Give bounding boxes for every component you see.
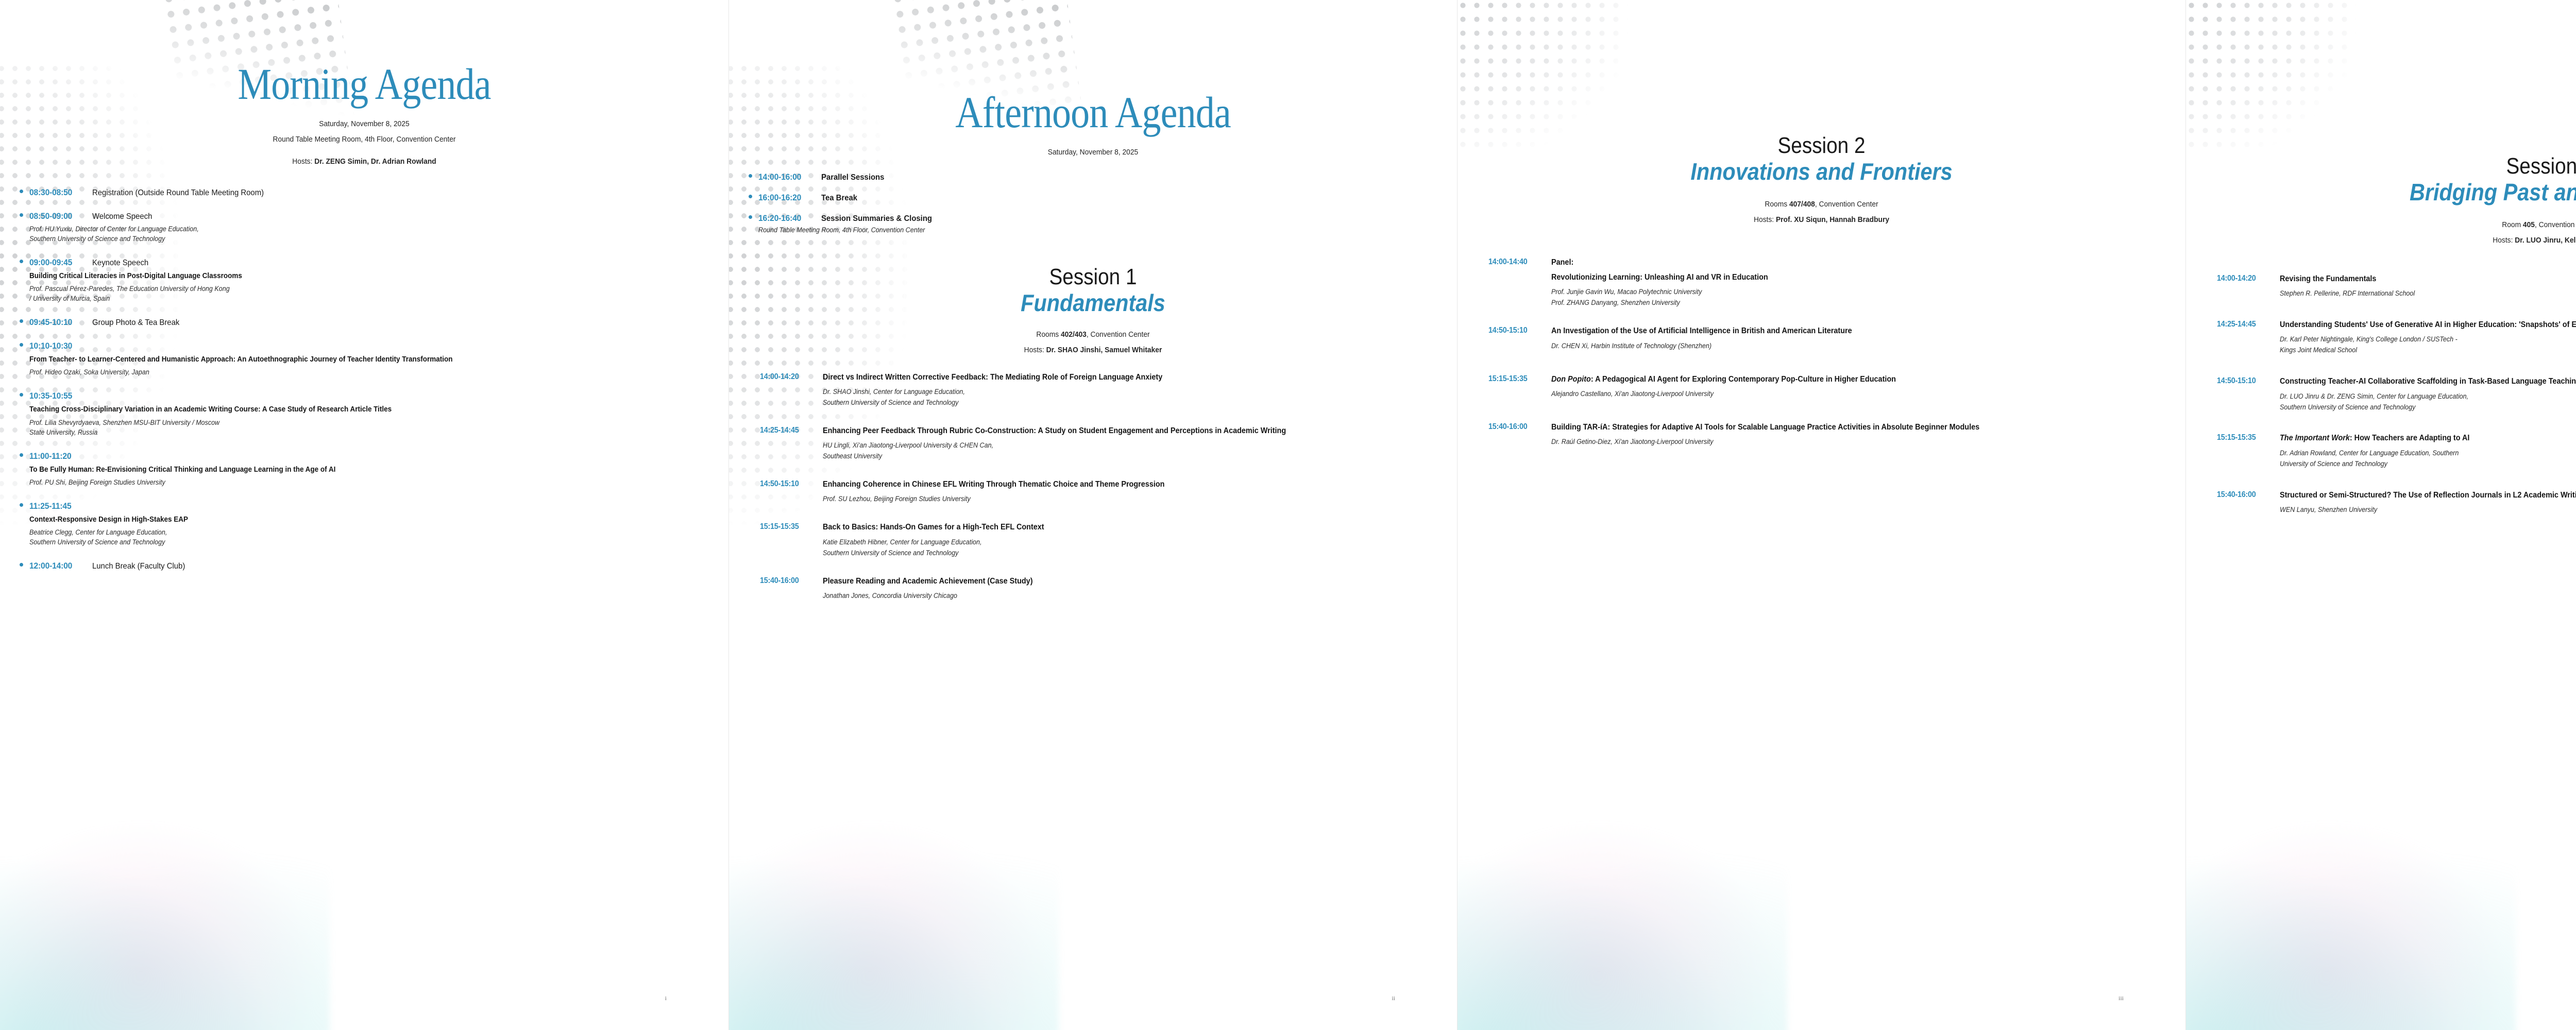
affiliation-line: University of Science and Technology	[2280, 459, 2576, 469]
affiliation-line: Southern University of Science and Techn…	[823, 548, 1384, 558]
slide-morning-agenda: Morning Agenda Saturday, November 8, 202…	[0, 0, 728, 1030]
page-number: iii	[2119, 994, 2124, 1002]
talk-row[interactable]: 15:40-16:00 Structured or Semi-Structure…	[2217, 490, 2576, 515]
session-room: Rooms 402/403, Convention Center	[758, 330, 1428, 339]
talk-title: Enhancing Peer Feedback Through Rubric C…	[823, 425, 1384, 437]
session-3-talks: 14:00-14:20 Revising the Fundamentals St…	[2186, 273, 2576, 515]
affiliation-line: Southeast University	[823, 451, 1384, 461]
talk-title: Building TAR-íA: Strategies for Adaptive…	[1551, 422, 2112, 433]
talk-row[interactable]: 14:50-15:10 Enhancing Coherence in Chine…	[760, 479, 1426, 504]
session-hosts: Hosts: Prof. XU Siqun, Hannah Bradbury	[1487, 215, 2157, 224]
affiliation-line: HU Lingli, Xi'an Jiaotong-Liverpool Univ…	[823, 440, 1384, 451]
list-item[interactable]: 14:00-16:00 Parallel Sessions	[749, 172, 1424, 182]
item-affiliation: Prof. PU Shi, Beijing Foreign Studies Un…	[29, 478, 649, 488]
affiliation-line: Kings Joint Medical School	[2280, 345, 2576, 355]
talk-title-line2: Revolutionizing Learning: Unleashing AI …	[1551, 272, 2112, 283]
item-affiliation: Prof. Pascual Pérez-Paredes, The Educati…	[29, 284, 649, 304]
item-label: Registration (Outside Round Table Meetin…	[92, 188, 264, 198]
event-venue: Round Table Meeting Room, 4th Floor, Con…	[29, 135, 700, 144]
item-time: 09:00-09:45	[29, 257, 80, 268]
talk-row[interactable]: 14:00-14:20 Direct vs Indirect Written C…	[760, 372, 1426, 408]
affiliation-line: Prof. Junjie Gavin Wu, Macao Polytechnic…	[1551, 287, 2112, 297]
item-time: 11:00-11:20	[29, 451, 80, 461]
room-prefix: Rooms	[1036, 330, 1061, 339]
talk-time: 14:50-15:10	[1488, 325, 1543, 351]
talk-affiliation: Prof. Junjie Gavin Wu, Macao Polytechnic…	[1551, 287, 2112, 308]
affiliation-line: Southern University of Science and Techn…	[823, 398, 1384, 408]
item-subtitle: To Be Fully Human: Re-Envisioning Critic…	[29, 465, 649, 475]
session-number: Session 3	[2230, 154, 2576, 178]
item-affiliation: Prof. Lilia Shevyrdyaeva, Shenzhen MSU-B…	[29, 418, 649, 438]
talk-affiliation: Jonathan Jones, Concordia University Chi…	[823, 591, 1384, 601]
hosts-names: Dr. ZENG Simin, Dr. Adrian Rowland	[314, 157, 436, 166]
talk-title: The Important Work: How Teachers are Ada…	[2280, 433, 2576, 444]
session-header: Session 2 Innovations and Frontiers	[1458, 134, 2185, 185]
affiliation-line: Prof. HU Yuxiu, Director of Center for L…	[29, 225, 649, 234]
talk-time: 15:15-15:35	[1488, 374, 1543, 399]
page-number: i	[665, 994, 667, 1002]
talk-time: 14:25-14:45	[2217, 319, 2272, 355]
session-hosts: Hosts: Dr. SHAO Jinshi, Samuel Whitaker	[758, 346, 1428, 354]
hosts-label: Hosts:	[292, 157, 312, 166]
talk-title: Structured or Semi-Structured? The Use o…	[2280, 490, 2576, 501]
talk-title-italic: The Important Work	[2280, 434, 2350, 442]
gradient-wash	[0, 814, 330, 1030]
talk-time: 15:15-15:35	[760, 522, 815, 558]
talk-title: Back to Basics: Hands-On Games for a Hig…	[823, 522, 1384, 533]
room-number: 405	[2523, 220, 2535, 229]
list-item[interactable]: 10:10-10:30 From Teacher- to Learner-Cen…	[20, 341, 696, 377]
room-suffix: , Convention Center	[2535, 220, 2576, 229]
item-label: Keynote Speech	[92, 259, 148, 268]
hosts-label: Hosts:	[2493, 236, 2513, 245]
talk-row[interactable]: 14:00-14:20 Revising the Fundamentals St…	[2217, 273, 2576, 299]
talk-row[interactable]: 15:15-15:35 The Important Work: How Teac…	[2217, 433, 2576, 469]
item-affiliation: Prof. Hideo Ozaki, Soka University, Japa…	[29, 368, 649, 377]
list-item[interactable]: 11:25-11:45 Context-Responsive Design in…	[20, 501, 696, 547]
talk-affiliation: Dr. Karl Peter Nightingale, King's Colle…	[2280, 334, 2576, 355]
event-hosts: Hosts: Dr. ZENG Simin, Dr. Adrian Rowlan…	[29, 157, 700, 166]
affiliation-line: WEN Lanyu, Shenzhen University	[2280, 505, 2576, 515]
item-note: Round Table Meeting Room, 4th Floor, Con…	[758, 226, 1378, 235]
session-name: Innovations and Frontiers	[1494, 159, 2149, 185]
item-subtitle: Building Critical Literacies in Post-Dig…	[29, 271, 649, 281]
talk-affiliation: Stephen R. Pellerine, RDF International …	[2280, 288, 2576, 299]
talk-affiliation: Dr. SHAO Jinshi, Center for Language Edu…	[823, 387, 1384, 408]
hosts-names: Dr. LUO Jinru, Kelly Nelson	[2515, 236, 2576, 245]
affiliation-line: Katie Elizabeth Hibner, Center for Langu…	[823, 537, 1384, 547]
session-hosts: Hosts: Dr. LUO Jinru, Kelly Nelson	[2215, 236, 2576, 245]
affiliation-line: Prof. Lilia Shevyrdyaeva, Shenzhen MSU-B…	[29, 418, 649, 428]
affiliation-line: Dr. LUO Jinru & Dr. ZENG Simin, Center f…	[2280, 391, 2576, 402]
bullet-icon	[749, 195, 752, 198]
bullet-icon	[20, 319, 23, 323]
talk-time: 15:40-16:00	[2217, 490, 2272, 515]
gradient-wash	[1457, 814, 1787, 1030]
room-number: 407/408	[1789, 200, 1815, 209]
talk-row[interactable]: 15:40-16:00 Building TAR-íA: Strategies …	[1488, 422, 2155, 447]
affiliation-line: Dr. Raúl Getino-Diez, Xi'an Jiaotong-Liv…	[1551, 437, 2112, 447]
bullet-icon	[20, 393, 23, 397]
session-name: Bridging Past and Future (I)	[2223, 179, 2576, 206]
talk-time: 14:00-14:40	[1488, 257, 1543, 308]
affiliation-line: Prof. SU Lezhou, Beijing Foreign Studies…	[823, 494, 1384, 504]
talk-affiliation: Dr. CHEN Xi, Harbin Institute of Technol…	[1551, 341, 2112, 351]
talk-time: 14:50-15:10	[2217, 376, 2272, 412]
page-title: Afternoon Agenda	[780, 90, 1406, 134]
hosts-names: Dr. SHAO Jinshi, Samuel Whitaker	[1046, 346, 1162, 354]
list-item[interactable]: 11:00-11:20 To Be Fully Human: Re-Envisi…	[20, 451, 696, 488]
talk-title: Revising the Fundamentals	[2280, 273, 2576, 285]
affiliation-line: Southern University of Science and Techn…	[29, 234, 649, 244]
affiliation-line: State University, Russia	[29, 428, 649, 438]
affiliation-line: Jonathan Jones, Concordia University Chi…	[823, 591, 1384, 601]
talk-row[interactable]: 15:15-15:35 Back to Basics: Hands-On Gam…	[760, 522, 1426, 558]
item-affiliation: Prof. HU Yuxiu, Director of Center for L…	[29, 225, 649, 244]
item-time: 10:10-10:30	[29, 341, 80, 351]
talk-title-rest: : How Teachers are Adapting to AI	[2350, 434, 2470, 442]
affiliation-line: Dr. CHEN Xi, Harbin Institute of Technol…	[1551, 341, 2112, 351]
talk-time: 14:00-14:20	[760, 372, 815, 408]
hosts-label: Hosts:	[1024, 346, 1044, 354]
room-prefix: Rooms	[1765, 200, 1789, 209]
talk-time: 14:25-14:45	[760, 425, 815, 461]
bullet-icon	[20, 453, 23, 457]
list-item[interactable]: 12:00-14:00 Lunch Break (Faculty Club)	[20, 561, 696, 571]
talk-row[interactable]: 14:25-14:45 Understanding Students' Use …	[2217, 319, 2576, 355]
affiliation-line: Dr. Adrian Rowland, Center for Language …	[2280, 448, 2576, 458]
afternoon-agenda-list: 14:00-16:00 Parallel Sessions 16:00-16:2…	[729, 172, 1457, 235]
talk-affiliation: Dr. LUO Jinru & Dr. ZENG Simin, Center f…	[2280, 391, 2576, 413]
page-title: Morning Agenda	[51, 62, 677, 106]
session-header: Session 3 Bridging Past and Future (I)	[2186, 154, 2576, 206]
talk-affiliation: Alejandro Castellano, Xi'an Jiaotong-Liv…	[1551, 389, 2112, 399]
room-number: 402/403	[1061, 330, 1087, 339]
slide-afternoon-agenda: Afternoon Agenda Saturday, November 8, 2…	[728, 0, 1457, 1030]
talk-title-rest: : A Pedagogical AI Agent for Exploring C…	[1591, 375, 1896, 384]
bullet-icon	[20, 260, 23, 263]
list-item[interactable]: 08:30-08:50 Registration (Outside Round …	[20, 187, 696, 198]
talk-affiliation: HU Lingli, Xi'an Jiaotong-Liverpool Univ…	[823, 440, 1384, 461]
bullet-icon	[20, 343, 23, 347]
list-item[interactable]: 09:45-10:10 Group Photo & Tea Break	[20, 317, 696, 328]
page-number: ii	[1392, 994, 1395, 1002]
talk-title: Don Popito: A Pedagogical AI Agent for E…	[1551, 374, 2112, 385]
affiliation-line: Alejandro Castellano, Xi'an Jiaotong-Liv…	[1551, 389, 2112, 399]
item-time: 11:25-11:45	[29, 501, 80, 511]
talk-title: Constructing Teacher-AI Collaborative Sc…	[2280, 376, 2576, 387]
session-header: Session 1 Fundamentals	[729, 265, 1457, 317]
talk-time: 15:40-16:00	[1488, 422, 1543, 447]
affiliation-line: Stephen R. Pellerine, RDF International …	[2280, 288, 2576, 299]
session-room: Room 405, Convention Center	[2215, 220, 2576, 229]
bullet-icon	[749, 215, 752, 219]
talk-affiliation: Dr. Adrian Rowland, Center for Language …	[2280, 448, 2576, 469]
slide-session-3: Session 3 Bridging Past and Future (I) R…	[2185, 0, 2576, 1030]
talk-row[interactable]: 15:40-16:00 Pleasure Reading and Academi…	[760, 576, 1426, 601]
list-item[interactable]: 08:50-09:00 Welcome Speech Prof. HU Yuxi…	[20, 211, 696, 244]
slide-session-2: Session 2 Innovations and Frontiers Room…	[1457, 0, 2185, 1030]
affiliation-line: Southern University of Science and Techn…	[2280, 402, 2576, 413]
room-prefix: Room	[2502, 220, 2523, 229]
talk-title: Understanding Students' Use of Generativ…	[2280, 319, 2576, 331]
talk-time: 15:15-15:35	[2217, 433, 2272, 469]
affiliation-line: Dr. SHAO Jinshi, Center for Language Edu…	[823, 387, 1384, 397]
list-item[interactable]: 10:35-10:55 Teaching Cross-Disciplinary …	[20, 391, 696, 437]
dot-pattern-icon	[1457, 0, 1628, 154]
bullet-icon	[20, 213, 23, 217]
talk-affiliation: WEN Lanyu, Shenzhen University	[2280, 505, 2576, 515]
bullet-icon	[20, 503, 23, 507]
morning-agenda-list: 08:30-08:50 Registration (Outside Round …	[0, 187, 728, 571]
gradient-wash	[2185, 814, 2516, 1030]
item-time: 14:00-16:00	[758, 172, 809, 182]
talk-affiliation: Dr. Raúl Getino-Diez, Xi'an Jiaotong-Liv…	[1551, 437, 2112, 447]
item-subtitle: Teaching Cross-Disciplinary Variation in…	[29, 405, 649, 415]
item-time: 09:45-10:10	[29, 317, 80, 328]
item-time: 16:20-16:40	[758, 213, 809, 224]
item-label: Lunch Break (Faculty Club)	[92, 562, 185, 571]
talk-affiliation: Katie Elizabeth Hibner, Center for Langu…	[823, 537, 1384, 558]
item-label: Tea Break	[821, 194, 857, 203]
room-suffix: , Convention Center	[1087, 330, 1150, 339]
talk-time: 14:00-14:20	[2217, 273, 2272, 299]
affiliation-line: Prof. PU Shi, Beijing Foreign Studies Un…	[29, 478, 649, 488]
list-item[interactable]: 16:20-16:40 Session Summaries & Closing …	[749, 213, 1424, 235]
item-label: Group Photo & Tea Break	[92, 318, 179, 328]
agenda-deck: Morning Agenda Saturday, November 8, 202…	[0, 0, 2576, 1030]
session-number: Session 2	[1501, 134, 2142, 158]
talk-time: 15:40-16:00	[760, 576, 815, 601]
item-label: Parallel Sessions	[821, 173, 884, 182]
item-subtitle: From Teacher- to Learner-Centered and Hu…	[29, 355, 649, 365]
affiliation-line: Prof. Hideo Ozaki, Soka University, Japa…	[29, 368, 649, 377]
session-room: Rooms 407/408, Convention Center	[1487, 200, 2157, 209]
talk-title: An Investigation of the Use of Artificia…	[1551, 325, 2112, 337]
talk-title-italic: Don Popito	[1551, 375, 1591, 384]
item-label: Welcome Speech	[92, 212, 152, 221]
hosts-label: Hosts:	[1754, 215, 1774, 224]
session-1-talks: 14:00-14:20 Direct vs Indirect Written C…	[729, 372, 1457, 601]
list-item[interactable]: 09:00-09:45 Keynote Speech Building Crit…	[20, 257, 696, 304]
talk-title: Direct vs Indirect Written Corrective Fe…	[823, 372, 1384, 383]
bullet-icon	[20, 563, 23, 566]
dot-pattern-icon	[2185, 0, 2356, 154]
item-subtitle: Context-Responsive Design in High-Stakes…	[29, 515, 649, 525]
item-label: Session Summaries & Closing	[821, 214, 932, 224]
affiliation-line: Prof. ZHANG Danyang, Shenzhen University	[1551, 298, 2112, 308]
item-time: 08:50-09:00	[29, 211, 80, 221]
affiliation-line: Southern University of Science and Techn…	[29, 538, 649, 547]
room-suffix: , Convention Center	[1815, 200, 1878, 209]
event-date: Saturday, November 8, 2025	[29, 119, 700, 128]
item-time: 16:00-16:20	[758, 193, 809, 203]
item-affiliation: Beatrice Clegg, Center for Language Educ…	[29, 528, 649, 547]
bullet-icon	[20, 190, 23, 193]
talk-title: Pleasure Reading and Academic Achievemen…	[823, 576, 1384, 587]
talk-row[interactable]: 14:50-15:10 Constructing Teacher-AI Coll…	[2217, 376, 2576, 412]
list-item[interactable]: 16:00-16:20 Tea Break	[749, 193, 1424, 203]
talk-title: Panel:	[1551, 257, 2112, 268]
item-time: 10:35-10:55	[29, 391, 80, 401]
affiliation-line: Prof. Pascual Pérez-Paredes, The Educati…	[29, 284, 649, 294]
session-number: Session 1	[773, 265, 1413, 289]
talk-affiliation: Prof. SU Lezhou, Beijing Foreign Studies…	[823, 494, 1384, 504]
talk-row[interactable]: 14:25-14:45 Enhancing Peer Feedback Thro…	[760, 425, 1426, 461]
bullet-icon	[749, 174, 752, 178]
affiliation-line: Beatrice Clegg, Center for Language Educ…	[29, 528, 649, 538]
session-name: Fundamentals	[766, 290, 1421, 317]
event-date: Saturday, November 8, 2025	[758, 148, 1428, 157]
talk-row[interactable]: 15:15-15:35 Don Popito: A Pedagogical AI…	[1488, 374, 2155, 399]
item-time: 12:00-14:00	[29, 561, 80, 571]
item-time: 08:30-08:50	[29, 187, 80, 198]
talk-row[interactable]: 14:50-15:10 An Investigation of the Use …	[1488, 325, 2155, 351]
talk-time: 14:50-15:10	[760, 479, 815, 504]
affiliation-line: / University of Murcia, Spain	[29, 294, 649, 304]
session-2-talks: 14:00-14:40 Panel: Revolutionizing Learn…	[1458, 257, 2185, 447]
affiliation-line: Dr. Karl Peter Nightingale, King's Colle…	[2280, 334, 2576, 345]
talk-row[interactable]: 14:00-14:40 Panel: Revolutionizing Learn…	[1488, 257, 2155, 308]
talk-title: Enhancing Coherence in Chinese EFL Writi…	[823, 479, 1384, 490]
hosts-names: Prof. XU Siqun, Hannah Bradbury	[1776, 215, 1889, 224]
gradient-wash	[728, 814, 1059, 1030]
